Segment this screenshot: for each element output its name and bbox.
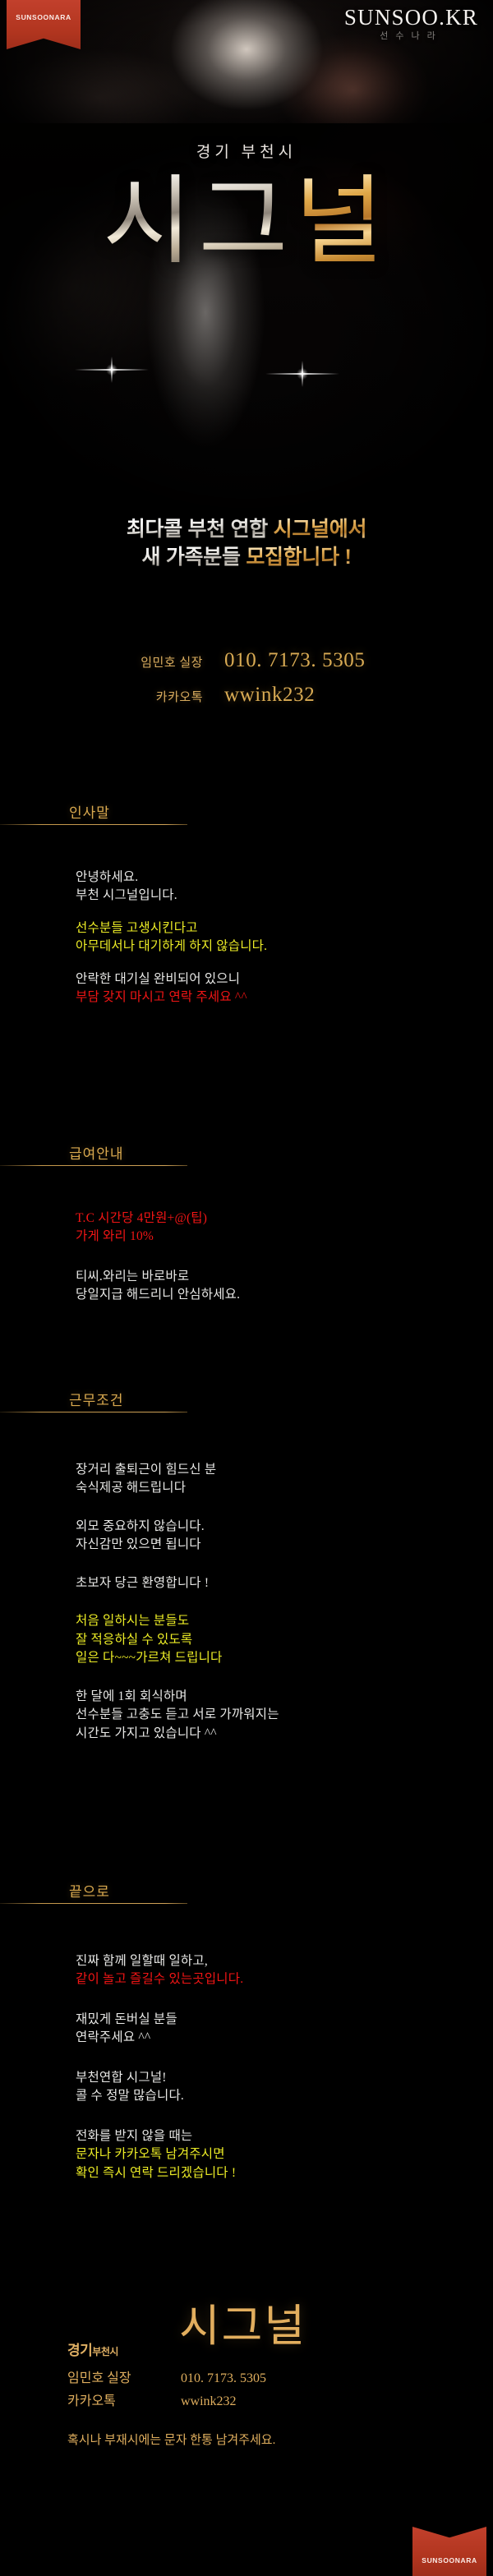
section-body-work-conditions: 장거리 출퇴근이 힘드신 분 숙식제공 해드립니다 외모 중요하지 않습니다. … [0, 1425, 493, 1743]
text-line: 콜 수 정말 많습니다. [76, 2087, 493, 2105]
hero-city-label: 경기 부천시 [0, 140, 493, 162]
headline-line-2-a: 새 가족분들 [142, 546, 246, 569]
text-line: 연락주세요 ^^ [76, 2029, 493, 2047]
section-title: 근무조건 [69, 1389, 124, 1409]
footer-row-phone: 임민호 실장 010. 7173. 5305 [67, 2366, 266, 2386]
text-line: 재밌게 돈버실 분들 [76, 2011, 493, 2029]
footer: 경기부천시 시그널 임민호 실장 010. 7173. 5305 카카오톡 ww… [0, 2301, 493, 2498]
headline-line-1: 최다콜 부천 연합 시그널에서 [0, 516, 493, 544]
sunsoonara-ribbon-bottom[interactable]: SUNSOONARA [412, 2527, 486, 2576]
section-body-salary: T.C 시간당 4만원+@(팁) 가게 와리 10% 티씨.와리는 바로바로 당… [0, 1178, 493, 1305]
paragraph: 한 달에 1회 회식하며 선수분들 고충도 듣고 서로 가까워지는 시간도 가지… [76, 1688, 493, 1743]
text-line: 티씨.와리는 바로바로 [76, 1268, 493, 1286]
text-line: 진짜 함께 일할때 일하고, [76, 1952, 493, 1970]
footer-row-kakao: 카카오톡 wwink232 [67, 2389, 237, 2409]
footer-label-manager: 임민호 실장 [67, 2366, 181, 2386]
footer-phone-number[interactable]: 010. 7173. 5305 [181, 2371, 266, 2386]
text-line-highlight: 가게 와리 10% [76, 1228, 493, 1246]
section-underline [0, 1903, 187, 1904]
text-line: 시간도 가지고 있습니다 ^^ [76, 1725, 493, 1743]
ribbon-label-top: SUNSOONARA [7, 13, 81, 21]
text-line: 장거리 출퇴근이 힘드신 분 [76, 1461, 493, 1479]
contact-block-top: 임민호 실장 010. 7173. 5305 카카오톡 wwink232 [0, 649, 493, 718]
section-heading-work-conditions: 근무조건 [0, 1389, 493, 1425]
paragraph: 재밌게 돈버실 분들 연락주세요 ^^ [76, 2011, 493, 2048]
text-line: 안녕하세요. [76, 869, 493, 887]
text-line-highlight: T.C 시간당 4만원+@(팁) [76, 1210, 493, 1228]
footer-city-name: 부천시 [92, 2346, 118, 2357]
brand-subtitle: 선수나라 [344, 32, 478, 41]
headline-line-1-b: 시그널에서 [274, 518, 367, 541]
footer-kakao-id[interactable]: wwink232 [181, 2394, 237, 2409]
paragraph: 장거리 출퇴근이 힘드신 분 숙식제공 해드립니다 [76, 1461, 493, 1498]
text-line: 당일지급 해드리니 안심하세요. [76, 1286, 493, 1304]
hero-title: 시그널 [0, 174, 493, 271]
text-line: 아무데서나 대기하게 하지 않습니다. [76, 938, 493, 956]
section-greeting: 인사말 안녕하세요. 부천 시그널입니다. 선수분들 고생시킨다고 아무데서나 … [0, 801, 493, 1007]
headline-line-2: 새 가족분들 모집합니다 ! [0, 544, 493, 572]
section-title: 인사말 [69, 801, 110, 822]
hero-title-char-2: 그 [199, 174, 295, 271]
text-line: 자신감만 있으면 됩니다 [76, 1536, 493, 1554]
paragraph: 진짜 함께 일할때 일하고, 같이 놀고 즐길수 있는곳입니다. [76, 1952, 493, 1989]
advertisement-page: SUNSOO.KR 선수나라 SUNSOONARA 경기 부천시 시그널 최다콜… [0, 0, 493, 2576]
footer-signal-logo: 시그널 [179, 2304, 306, 2348]
headline-line-1-a: 최다콜 부천 연합 [127, 518, 274, 541]
paragraph: 티씨.와리는 바로바로 당일지급 해드리니 안심하세요. [76, 1268, 493, 1305]
section-title: 급여안내 [69, 1142, 124, 1163]
section-body-closing: 진짜 함께 일할때 일하고, 같이 놀고 즐길수 있는곳입니다. 재밌게 돈버실… [0, 1916, 493, 2182]
contact-row-kakao: 카카오톡 wwink232 [0, 684, 493, 707]
footer-city-province: 경기 [67, 2343, 92, 2358]
section-underline [0, 1412, 187, 1412]
text-line: 일은 다~~~가르쳐 드립니다 [76, 1649, 493, 1667]
brand-name: SUNSOO.KR [344, 7, 478, 29]
section-underline [0, 824, 187, 825]
text-line: 전화를 받지 않을 때는 [76, 2127, 493, 2145]
text-line: 선수분들 고생시킨다고 [76, 919, 493, 938]
text-line: 부천 시그널입니다. [76, 887, 493, 905]
section-body-greeting: 안녕하세요. 부천 시그널입니다. 선수분들 고생시킨다고 아무데서나 대기하게… [0, 837, 493, 1007]
paragraph: 안락한 대기실 완비되어 있으니 부담 갖지 마시고 연락 주세요 ^^ [76, 970, 493, 1007]
text-line: 잘 적응하실 수 있도록 [76, 1631, 493, 1649]
section-heading-salary: 급여안내 [0, 1142, 493, 1178]
contact-phone-number[interactable]: 010. 7173. 5305 [224, 649, 413, 672]
footer-city: 경기부천시 [67, 2339, 118, 2359]
section-salary: 급여안내 T.C 시간당 4만원+@(팁) 가게 와리 10% 티씨.와리는 바… [0, 1142, 493, 1305]
contact-row-phone: 임민호 실장 010. 7173. 5305 [0, 649, 493, 672]
paragraph: 외모 중요하지 않습니다. 자신감만 있으면 됩니다 [76, 1518, 493, 1555]
paragraph: 전화를 받지 않을 때는 문자나 카카오톡 남겨주시면 확인 즉시 연락 드리겠… [76, 2127, 493, 2182]
text-line: 안락한 대기실 완비되어 있으니 [76, 970, 493, 988]
text-line: 숙식제공 해드립니다 [76, 1479, 493, 1497]
contact-label-manager: 임민호 실장 [80, 653, 224, 670]
text-line: 문자나 카카오톡 남겨주시면 [76, 2145, 493, 2164]
section-work-conditions: 근무조건 장거리 출퇴근이 힘드신 분 숙식제공 해드립니다 외모 중요하지 않… [0, 1389, 493, 1743]
paragraph: T.C 시간당 4만원+@(팁) 가게 와리 10% [76, 1210, 493, 1247]
hero-section: 경기 부천시 시그널 [0, 123, 493, 509]
hero-title-char-1: 시 [103, 174, 199, 271]
brand-logo: SUNSOO.KR 선수나라 [344, 7, 478, 41]
section-underline [0, 1165, 187, 1166]
headline-line-2-b: 모집합니다 ! [246, 546, 351, 569]
text-line: 부천연합 시그널! [76, 2069, 493, 2087]
text-line-highlight: 같이 놀고 즐길수 있는곳입니다. [76, 1970, 493, 1988]
paragraph: 부천연합 시그널! 콜 수 정말 많습니다. [76, 2069, 493, 2106]
section-title: 끝으로 [69, 1880, 110, 1901]
footer-note: 혹시나 부재시에는 문자 한통 남겨주세요. [67, 2431, 275, 2448]
paragraph: 처음 일하시는 분들도 잘 적응하실 수 있도록 일은 다~~~가르쳐 드립니다 [76, 1612, 493, 1667]
text-line: 한 달에 1회 회식하며 [76, 1688, 493, 1706]
ribbon-label-bottom: SUNSOONARA [412, 2556, 486, 2564]
text-line: 외모 중요하지 않습니다. [76, 1518, 493, 1536]
footer-label-kakaotalk: 카카오톡 [67, 2389, 181, 2409]
contact-kakao-id[interactable]: wwink232 [224, 684, 413, 707]
text-line: 처음 일하시는 분들도 [76, 1612, 493, 1630]
text-line: 초보자 당근 환영합니다 ! [76, 1574, 493, 1592]
text-line: 확인 즉시 연락 드리겠습니다 ! [76, 2164, 493, 2182]
contact-label-kakaotalk: 카카오톡 [80, 688, 224, 705]
section-closing: 끝으로 진짜 함께 일할때 일하고, 같이 놀고 즐길수 있는곳입니다. 재밌게… [0, 1880, 493, 2182]
paragraph: 안녕하세요. 부천 시그널입니다. [76, 869, 493, 906]
text-line-highlight: 부담 갖지 마시고 연락 주세요 ^^ [76, 988, 493, 1007]
section-heading-greeting: 인사말 [0, 801, 493, 837]
paragraph: 선수분들 고생시킨다고 아무데서나 대기하게 하지 않습니다. [76, 919, 493, 956]
section-heading-closing: 끝으로 [0, 1880, 493, 1916]
main-headline: 최다콜 부천 연합 시그널에서 새 가족분들 모집합니다 ! [0, 516, 493, 571]
paragraph: 초보자 당근 환영합니다 ! [76, 1574, 493, 1592]
hero-title-char-3: 널 [294, 174, 390, 271]
text-line: 선수분들 고충도 듣고 서로 가까워지는 [76, 1706, 493, 1724]
